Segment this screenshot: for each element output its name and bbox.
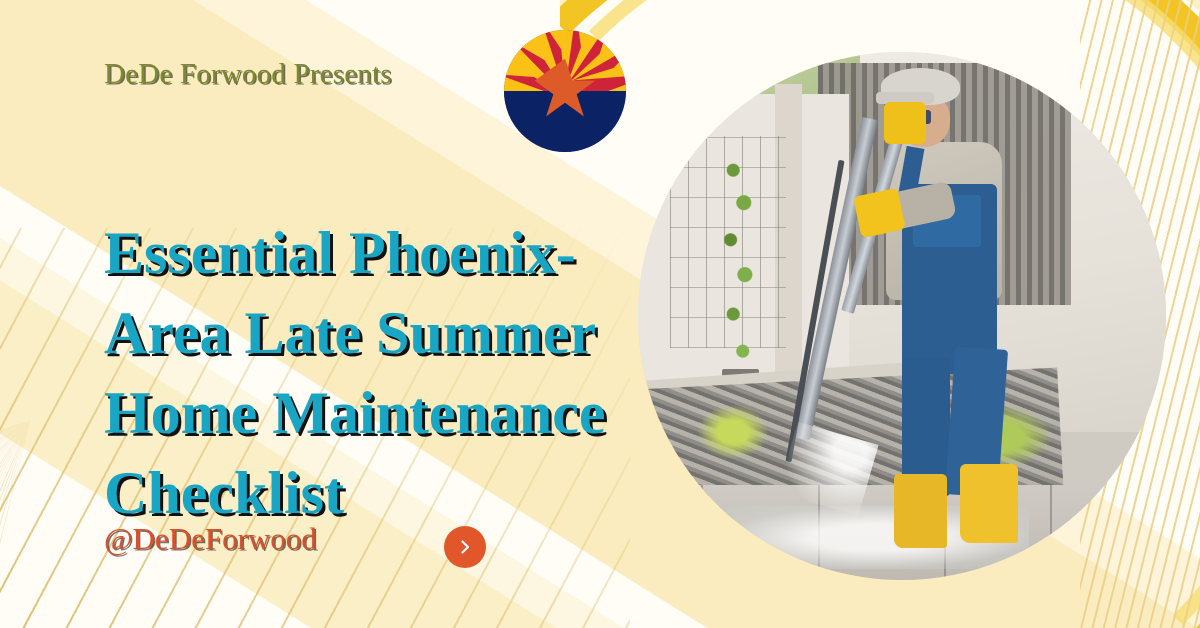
presenter-line: DeDe Forwood Presents <box>104 58 392 91</box>
social-handle: @DeDeForwood <box>104 521 317 557</box>
next-arrow-button[interactable] <box>444 526 486 568</box>
chevron-right-icon <box>457 539 473 555</box>
page-title: Essential Phoenix-Area Late Summer Home … <box>104 214 664 533</box>
social-graphic-canvas: DeDe Forwood Presents Essential Phoenix-… <box>0 0 1200 628</box>
arizona-flag-badge <box>504 30 626 152</box>
pressure-washing-photo <box>638 52 1166 580</box>
